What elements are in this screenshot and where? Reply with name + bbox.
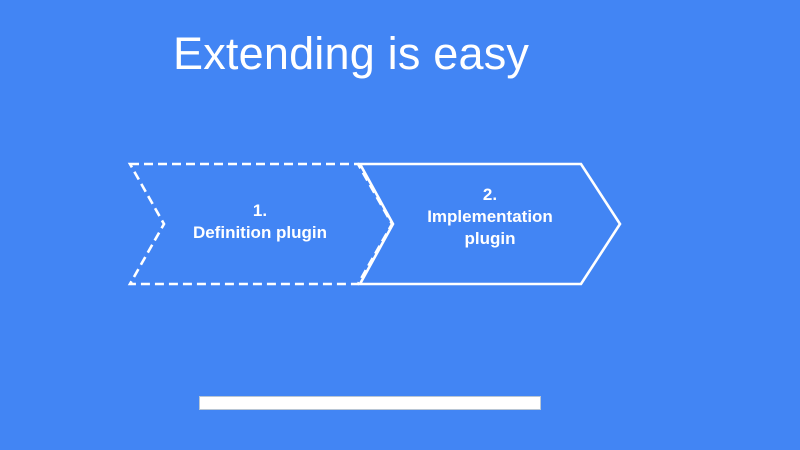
chevron-1-text: Definition plugin [170, 222, 350, 244]
chevron-label-definition-plugin: 1. Definition plugin [170, 200, 350, 244]
chevron-1-number: 1. [170, 200, 350, 222]
chevron-label-implementation-plugin: 2. Implementation plugin [400, 184, 580, 249]
slide-canvas: Extending is easy 1. Definition plugin 2… [0, 0, 800, 450]
page-title: Extending is easy [173, 29, 529, 79]
footer-bar [199, 396, 541, 410]
chevron-2-number: 2. [400, 184, 580, 206]
chevron-2-text-line-1: Implementation [400, 206, 580, 228]
chevron-2-text-line-2: plugin [400, 228, 580, 250]
